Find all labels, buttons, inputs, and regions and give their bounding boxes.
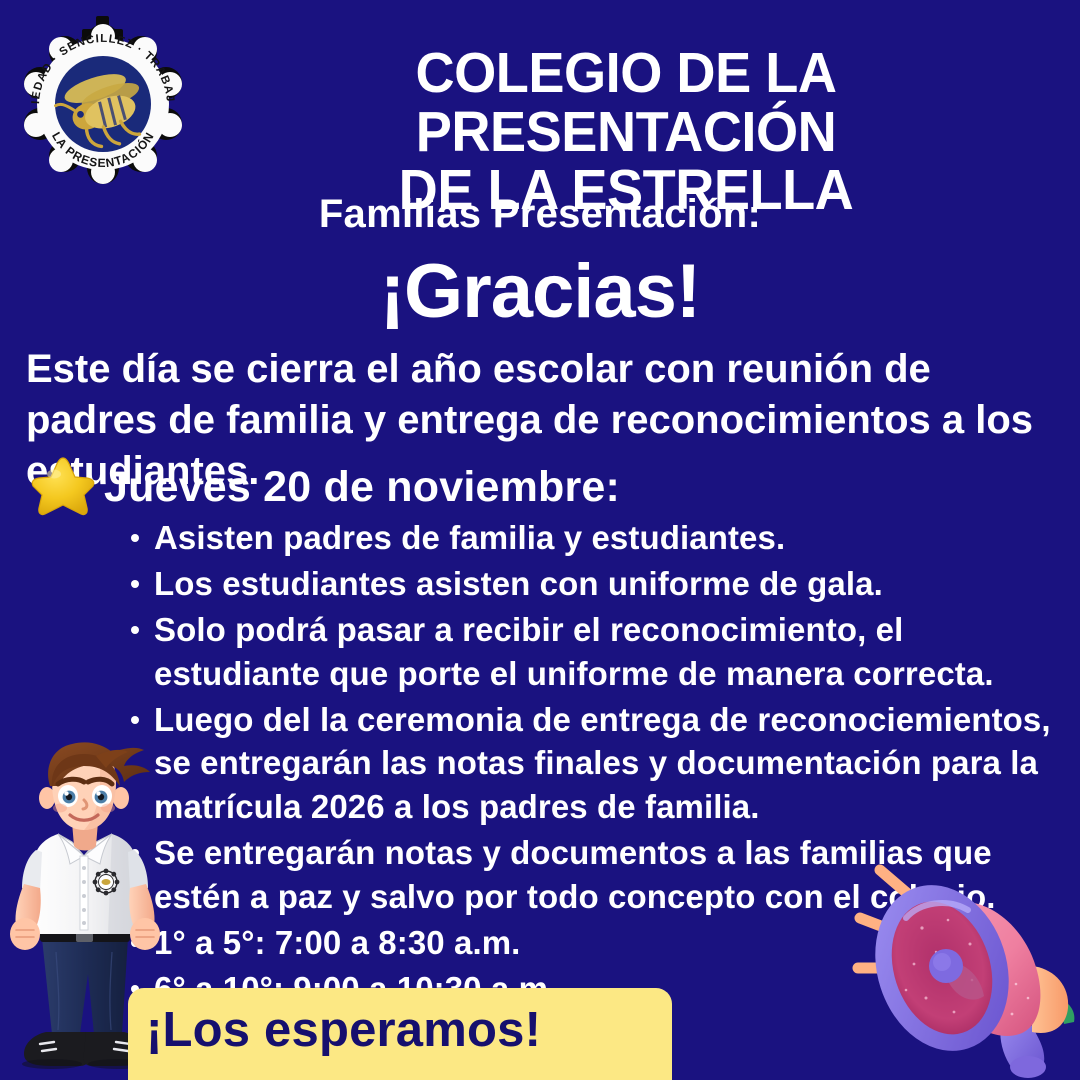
school-crest-icon: PIEDAD · SENCILLEZ · TRABAJO LA PRESENTA… [14, 14, 192, 192]
date-heading-row: Jueves 20 de noviembre: [30, 455, 620, 519]
thanks-headline: ¡Gracias! [0, 248, 1080, 335]
date-heading: Jueves 20 de noviembre: [104, 463, 620, 512]
list-item: Los estudiantes asisten con uniforme de … [124, 562, 1064, 606]
list-item: Luego del la ceremonia de entrega de rec… [124, 698, 1064, 830]
star-icon [30, 455, 96, 519]
cta-label: ¡Los esperamos! [146, 1002, 541, 1058]
megaphone-illustration [836, 856, 1080, 1080]
salutation-text: Familias Presentación: [0, 192, 1080, 237]
list-item: Asisten padres de familia y estudiantes. [124, 516, 1064, 560]
title-line-1: COLEGIO DE LA PRESENTACIÓN [208, 44, 1044, 161]
poster-canvas: PIEDAD · SENCILLEZ · TRABAJO LA PRESENTA… [0, 0, 1080, 1080]
list-item: Solo podrá pasar a recibir el reconocimi… [124, 608, 1064, 696]
